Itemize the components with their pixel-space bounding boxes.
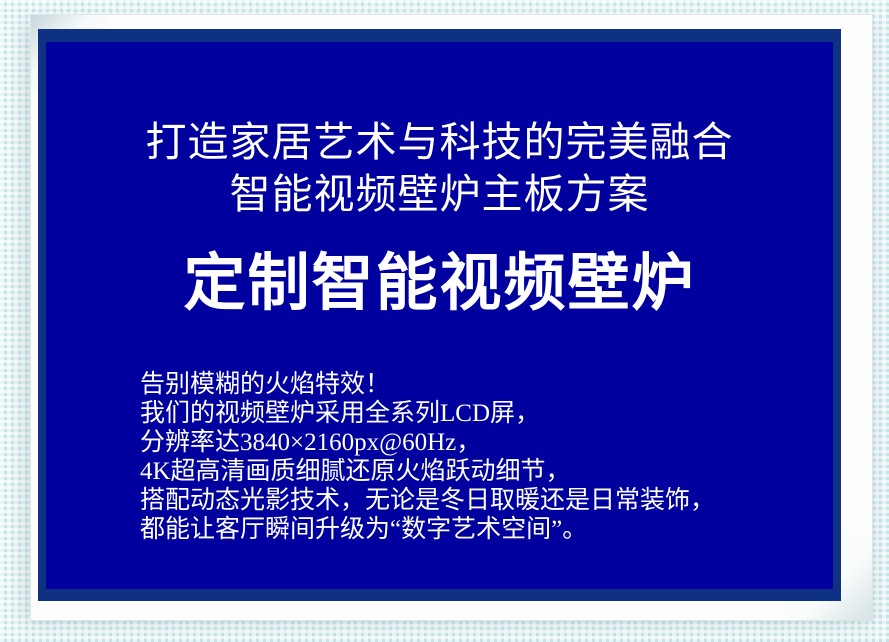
title-line-1: 打造家居艺术与科技的完美融合 bbox=[46, 116, 833, 168]
body-line-1: 告别模糊的火焰特效！ bbox=[140, 370, 715, 399]
body-line-4: 4K超高清画质细腻还原火焰跃动细节， bbox=[140, 457, 715, 486]
slide-root: 打造家居艺术与科技的完美融合 智能视频壁炉主板方案 定制智能视频壁炉 告别模糊的… bbox=[0, 0, 889, 642]
title-block: 打造家居艺术与科技的完美融合 智能视频壁炉主板方案 bbox=[46, 116, 833, 220]
headline: 定制智能视频壁炉 bbox=[46, 248, 833, 320]
body-line-5: 搭配动态光影技术，无论是冬日取暖还是日常装饰， bbox=[140, 486, 715, 515]
title-line-2: 智能视频壁炉主板方案 bbox=[46, 168, 833, 220]
body-line-2: 我们的视频壁炉采用全系列LCD屏， bbox=[140, 399, 715, 428]
body-line-3: 分辨率达3840×2160px@60Hz， bbox=[140, 428, 715, 457]
body-line-6: 都能让客厅瞬间升级为“数字艺术空间”。 bbox=[140, 515, 715, 544]
blue-content-panel: 打造家居艺术与科技的完美融合 智能视频壁炉主板方案 定制智能视频壁炉 告别模糊的… bbox=[46, 42, 833, 589]
body-text-block: 告别模糊的火焰特效！ 我们的视频壁炉采用全系列LCD屏， 分辨率达3840×21… bbox=[140, 370, 715, 544]
